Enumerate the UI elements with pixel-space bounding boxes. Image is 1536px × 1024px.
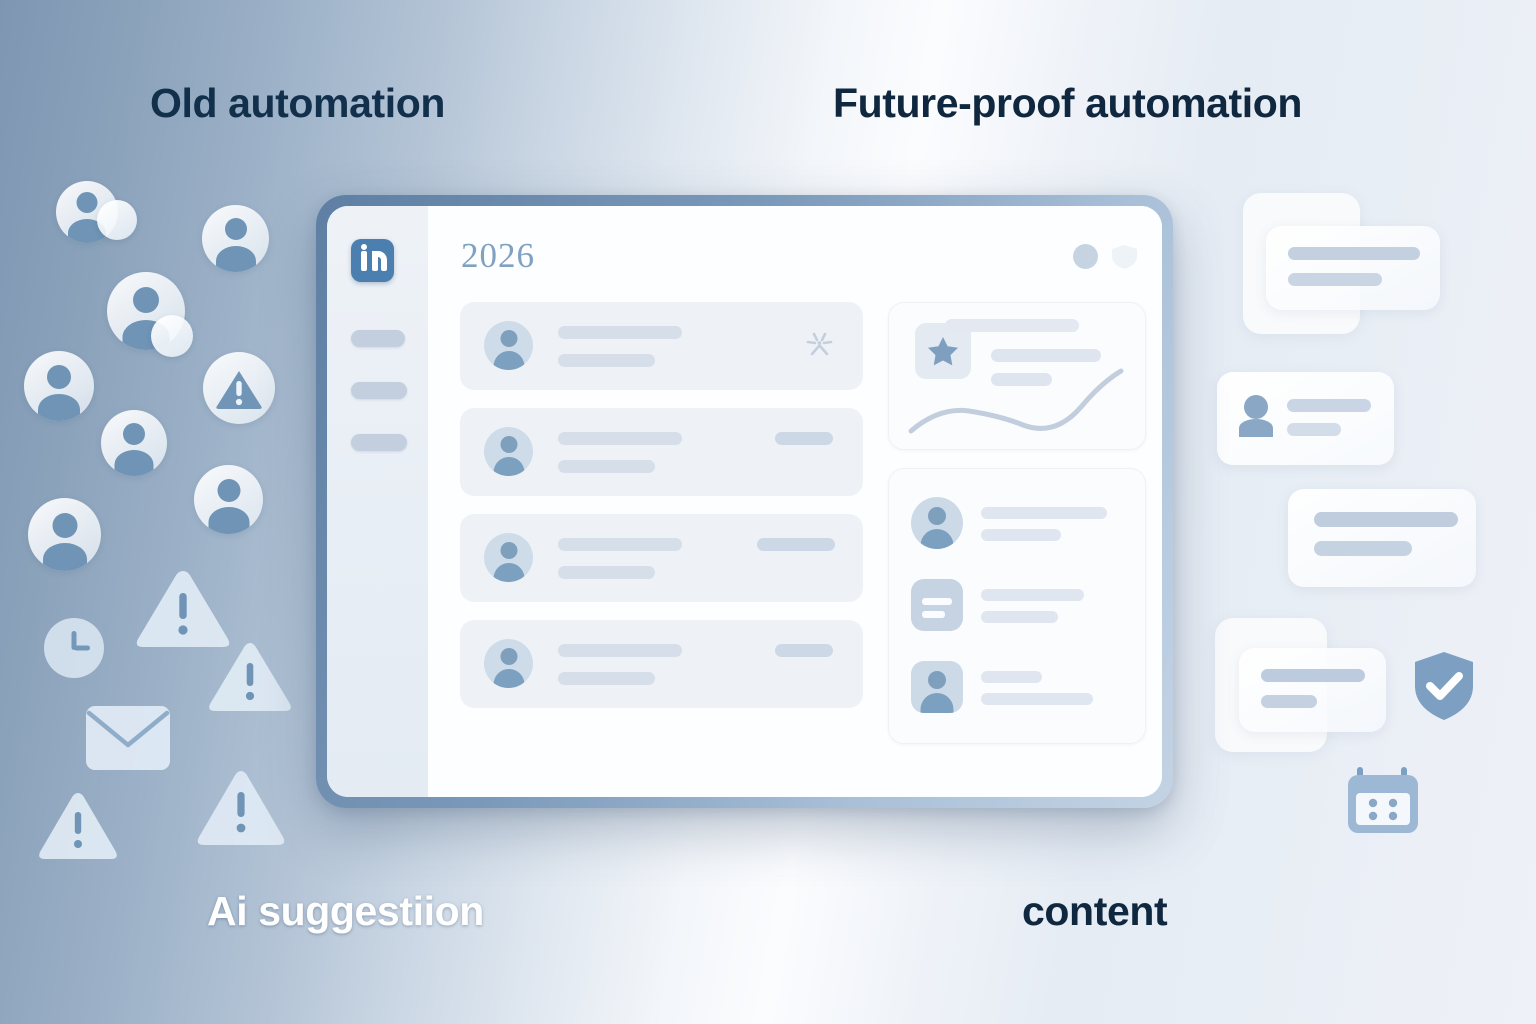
bubble-line: [1314, 512, 1458, 527]
bubble-line: [1314, 541, 1412, 556]
envelope-icon: [85, 705, 171, 771]
avatar: [1239, 395, 1273, 437]
trend-card[interactable]: [888, 302, 1146, 450]
feed-row[interactable]: [460, 302, 863, 390]
bubble-line: [1261, 669, 1365, 682]
warning-icon-3: [206, 638, 294, 718]
person-icon-2: [24, 351, 94, 421]
people-row[interactable]: [911, 579, 1125, 635]
alert-triangle-icon: [203, 352, 275, 424]
bubble-line: [1261, 695, 1317, 708]
trend-line-chart: [889, 359, 1146, 445]
sidebar: [327, 206, 428, 797]
skeleton-line: [981, 671, 1042, 683]
topbar-avatar-icon[interactable]: [1073, 244, 1098, 269]
user-avatar-icon: [484, 427, 533, 476]
feed-row[interactable]: [460, 514, 863, 602]
user-avatar-icon: [484, 533, 533, 582]
skeleton-line: [981, 611, 1058, 623]
caption-content: content: [1022, 888, 1167, 935]
person-icon-3: [101, 410, 167, 476]
skeleton-line: [558, 432, 682, 445]
sidebar-item-nav-3[interactable]: [351, 434, 407, 451]
clock-icon: [43, 617, 105, 679]
alert-triangle-icon: [206, 638, 294, 718]
person-icon-5: [28, 498, 101, 571]
chat-bubble-3: [1239, 648, 1386, 732]
action-pill[interactable]: [757, 538, 835, 551]
person-icon-4: [194, 465, 263, 534]
topbar-shield-icon[interactable]: [1111, 244, 1138, 270]
skeleton-line: [558, 460, 655, 473]
app-window: 2026: [316, 195, 1173, 808]
shield-check-icon: [1412, 650, 1476, 722]
skeleton-line: [981, 507, 1107, 519]
verified-shield-icon: [1412, 650, 1476, 722]
calendar-icon: [1345, 765, 1421, 837]
skeleton-line: [558, 354, 655, 367]
chat-bubble-contact: [1217, 372, 1394, 465]
side-rail: [888, 302, 1146, 744]
user-avatar-icon: [911, 497, 963, 549]
illustration-canvas: Old automation Future-proof automation A…: [0, 0, 1536, 1024]
skeleton-line: [981, 693, 1093, 705]
skeleton-line: [558, 326, 682, 339]
skeleton-line: [558, 538, 682, 551]
plus-badge-icon-2: [151, 315, 193, 357]
skeleton-line: [981, 589, 1084, 601]
bubble-line: [1287, 399, 1371, 412]
person-icon-1: [202, 205, 269, 272]
main-content: 2026: [428, 206, 1162, 797]
skeleton-line: [558, 566, 655, 579]
ai-sparkle-icon[interactable]: [803, 328, 835, 360]
bubble-line: [1288, 273, 1382, 286]
warning-circle-icon-1: [203, 352, 275, 424]
action-pill[interactable]: [775, 432, 833, 445]
warning-icon-4: [194, 766, 288, 852]
skeleton-line: [558, 672, 655, 685]
skeleton-line: [558, 644, 682, 657]
linkedin-logo-icon[interactable]: [351, 239, 394, 282]
skeleton-line: [981, 529, 1061, 541]
feed-row[interactable]: [460, 620, 863, 708]
clock-icon: [43, 617, 105, 679]
feed-list: [460, 302, 863, 726]
skeleton-line: [945, 319, 1079, 332]
topbar: 2026: [428, 206, 1162, 288]
alert-triangle-icon: [194, 766, 288, 852]
calendar-icon: [1345, 765, 1421, 837]
people-card[interactable]: [888, 468, 1146, 744]
plus-badge-icon-1: [97, 200, 137, 240]
user-avatar-icon: [484, 321, 533, 370]
year-label: 2026: [461, 236, 535, 276]
heading-future-proof: Future-proof automation: [833, 80, 1302, 127]
caption-ai-suggestion: Ai suggestiion: [207, 888, 484, 935]
action-pill[interactable]: [775, 644, 833, 657]
chat-bubble-2: [1288, 489, 1476, 587]
sidebar-item-nav-2[interactable]: [351, 382, 407, 399]
bubble-line: [1288, 247, 1420, 260]
bubble-line: [1287, 423, 1341, 436]
user-avatar-icon: [911, 661, 963, 713]
alert-triangle-icon: [36, 788, 120, 866]
user-avatar-icon: [484, 639, 533, 688]
warning-icon-5: [36, 788, 120, 866]
document-icon: [911, 579, 963, 631]
sidebar-item-nav-1[interactable]: [351, 330, 405, 347]
chat-bubble-1: [1266, 226, 1440, 310]
people-row[interactable]: [911, 497, 1125, 553]
heading-old-automation: Old automation: [150, 80, 445, 127]
app-window-content: 2026: [327, 206, 1162, 797]
feed-row[interactable]: [460, 408, 863, 496]
people-row[interactable]: [911, 661, 1125, 717]
mail-icon: [85, 705, 171, 771]
